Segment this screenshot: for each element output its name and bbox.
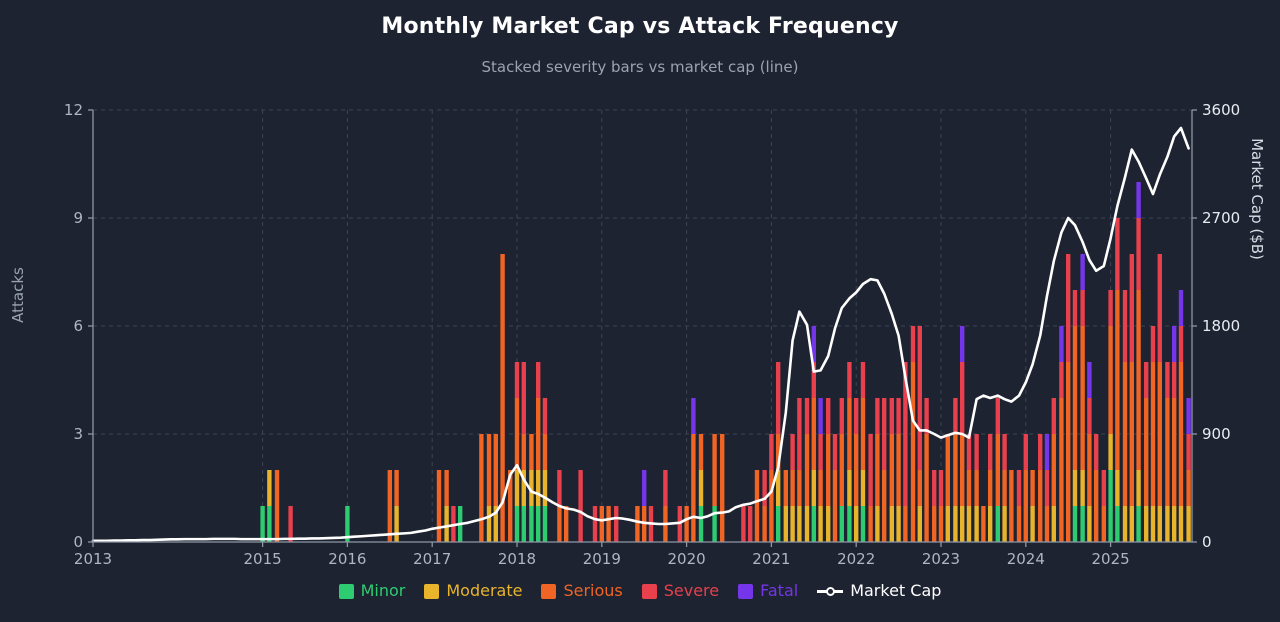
chart-subtitle: Stacked severity bars vs market cap (lin… (0, 58, 1280, 76)
bar-segment-serious (1066, 362, 1070, 542)
bar-segment-severe (918, 326, 922, 470)
x-tick-label: 2025 (1091, 550, 1129, 568)
y-tick-label: 0 (73, 533, 83, 551)
bar-segment-severe (557, 470, 561, 506)
bar-segment-minor (529, 506, 533, 542)
bar-segment-severe (996, 398, 1000, 434)
bar-segment-severe (890, 398, 894, 434)
bar-segment-serious (918, 470, 922, 506)
bar-segment-serious (847, 398, 851, 470)
x-tick-label: 2023 (922, 550, 960, 568)
bar-segment-serious (275, 470, 279, 542)
bar-segment-moderate (444, 506, 448, 542)
bar-segment-serious (536, 398, 540, 470)
line-marker-icon (817, 585, 843, 597)
bar-segment-severe (1151, 326, 1155, 362)
bar-segment-serious (890, 434, 894, 506)
bar-segment-moderate (918, 506, 922, 542)
bar-segment-serious (875, 434, 879, 506)
bar-segment-severe (1024, 434, 1028, 470)
bar-segment-moderate (861, 470, 865, 506)
legend-label: Fatal (760, 583, 798, 599)
bar-segment-serious (769, 470, 773, 542)
bar-segment-severe (882, 398, 886, 470)
bar-segment-serious (1186, 470, 1190, 506)
bar-segment-serious (953, 434, 957, 506)
bar-segment-fatal (1045, 434, 1049, 470)
bar-segment-severe (593, 506, 597, 542)
bar-segment-minor (522, 506, 526, 542)
bar-segment-fatal (960, 326, 964, 362)
bar-segment-serious (720, 434, 724, 542)
bar-segment-moderate (790, 506, 794, 542)
legend-label: Moderate (446, 583, 522, 599)
bar-segment-serious (960, 434, 964, 506)
bar-segment-moderate (536, 470, 540, 506)
bar-segment-severe (515, 362, 519, 398)
bar-segment-serious (494, 434, 498, 506)
bar-segment-serious (1038, 470, 1042, 542)
bar-segment-moderate (1172, 506, 1176, 542)
bar-segment-severe (932, 470, 936, 506)
bar-segment-serious (1144, 398, 1148, 506)
bar-segment-severe (1144, 362, 1148, 398)
bar-segment-serious (924, 434, 928, 542)
bar-segment-serious (805, 434, 809, 506)
bar-segment-moderate (946, 506, 950, 542)
bar-segment-serious (812, 398, 816, 470)
y-tick-label: 3 (73, 425, 83, 443)
bar-segment-moderate (267, 470, 271, 506)
bar-segment-fatal (1136, 182, 1140, 218)
bar-segment-moderate (953, 506, 957, 542)
bar-segment-moderate (1158, 506, 1162, 542)
x-tick-label: 2016 (328, 550, 366, 568)
bar-segment-severe (543, 398, 547, 434)
bar-segment-serious (606, 506, 610, 542)
bar-segment-serious (882, 470, 886, 542)
bar-segment-severe (1115, 218, 1119, 290)
bar-segment-moderate (1151, 506, 1155, 542)
bar-segment-severe (748, 506, 752, 542)
bar-segment-minor (712, 506, 716, 542)
bar-segment-minor (1080, 506, 1084, 542)
bar-segment-moderate (896, 506, 900, 542)
bar-segment-serious (1094, 470, 1098, 542)
bar-segment-minor (536, 506, 540, 542)
bar-segment-serious (479, 434, 483, 542)
legend-label: Severe (664, 583, 719, 599)
bar-segment-moderate (1186, 506, 1190, 542)
legend-swatch-fatal (738, 584, 753, 599)
x-tick-label: 2021 (752, 550, 790, 568)
bar-segment-serious (437, 470, 441, 542)
bar-segment-moderate (974, 506, 978, 542)
bar-segment-severe (1172, 362, 1176, 398)
y2-tick-label: 900 (1202, 425, 1231, 443)
bar-segment-severe (522, 362, 526, 434)
bar-segment-severe (1186, 434, 1190, 470)
bar-segment-severe (614, 506, 618, 542)
bar-segment-severe (1045, 470, 1049, 506)
bar-segment-fatal (1172, 326, 1176, 362)
x-tick-label: 2019 (583, 550, 621, 568)
bar-segment-severe (1052, 398, 1056, 434)
x-tick-label: 2015 (244, 550, 282, 568)
bar-segment-severe (988, 434, 992, 470)
bar-segment-severe (1017, 470, 1021, 506)
bar-segment-severe (939, 470, 943, 506)
bar-segment-moderate (854, 506, 858, 542)
bar-segment-serious (1059, 398, 1063, 542)
legend-swatch-moderate (424, 584, 439, 599)
bar-segment-serious (790, 470, 794, 506)
x-tick-label: 2013 (74, 550, 112, 568)
bar-segment-serious (522, 434, 526, 470)
bar-segment-serious (1045, 506, 1049, 542)
bar-segment-minor (996, 506, 1000, 542)
plot-area: 0369120900180027003600201320152016201720… (93, 110, 1192, 542)
bar-segment-fatal (642, 470, 646, 506)
x-tick-label: 2022 (837, 550, 875, 568)
bar-segment-serious (911, 362, 915, 542)
bar-segment-moderate (890, 506, 894, 542)
bar-segment-serious (1080, 326, 1084, 470)
bar-segment-serious (833, 470, 837, 542)
bar-segment-serious (712, 434, 716, 506)
legend-item-severe[interactable]: Severe (642, 583, 719, 599)
bar-segment-severe (1094, 434, 1098, 470)
bar-segment-serious (1009, 470, 1013, 542)
x-tick-label: 2024 (1007, 550, 1045, 568)
bar-segment-minor (699, 506, 703, 542)
bar-segment-serious (974, 470, 978, 506)
bar-segment-fatal (1080, 254, 1084, 290)
bar-segment-serious (684, 506, 688, 542)
legend-swatch-severe (642, 584, 657, 599)
bar-segment-severe (1087, 398, 1091, 434)
bar-segment-moderate (1144, 506, 1148, 542)
bar-segment-serious (818, 470, 822, 506)
bar-segment-minor (861, 506, 865, 542)
bar-segment-severe (536, 362, 540, 398)
bar-segment-moderate (967, 506, 971, 542)
bar-segment-serious (515, 398, 519, 470)
bar-segment-severe (960, 362, 964, 434)
bar-segment-serious (1115, 290, 1119, 470)
bar-segment-serious (1158, 362, 1162, 506)
bar-segment-fatal (691, 398, 695, 434)
bar-segment-severe (1080, 290, 1084, 326)
bar-segment-severe (1059, 362, 1063, 398)
y-tick-label: 12 (64, 101, 83, 119)
bar-segment-severe (818, 434, 822, 470)
bar-segment-serious (487, 434, 491, 506)
bar-segment-severe (924, 398, 928, 434)
legend-label: Market Cap (850, 583, 941, 599)
bar-segment-serious (1108, 326, 1112, 434)
bar-segment-severe (1136, 218, 1140, 290)
bar-segment-severe (578, 470, 582, 542)
x-tick-label: 2018 (498, 550, 536, 568)
bar-segment-moderate (1179, 506, 1183, 542)
bar-segment-moderate (1165, 506, 1169, 542)
bar-segment-serious (394, 470, 398, 506)
bar-segment-serious (826, 434, 830, 506)
bar-segment-fatal (1179, 290, 1183, 326)
bar-segment-serious (1130, 362, 1134, 506)
bar-segment-severe (663, 470, 667, 506)
bar-segment-serious (1087, 434, 1091, 506)
bar-segment-moderate (1123, 506, 1127, 542)
legend-item-fatal[interactable]: Fatal (738, 583, 798, 599)
bar-segment-moderate (818, 506, 822, 542)
bar-segment-severe (967, 434, 971, 470)
y2-axis-label: Market Cap ($B) (1248, 109, 1266, 289)
bar-segment-serious (755, 470, 759, 542)
y-tick-label: 9 (73, 209, 83, 227)
bar-segment-severe (1179, 326, 1183, 362)
y-axis-label: Attacks (9, 225, 27, 365)
bar-segment-severe (896, 398, 900, 434)
bar-segment-minor (776, 506, 780, 542)
bar-segment-serious (1179, 362, 1183, 506)
bar-segment-serious (600, 506, 604, 542)
bar-segment-severe (1123, 290, 1127, 362)
bar-segment-serious (1136, 290, 1140, 470)
legend-label: Minor (361, 583, 406, 599)
bar-segment-serious (797, 470, 801, 506)
x-tick-label: 2017 (413, 550, 451, 568)
bar-segment-minor (812, 506, 816, 542)
bar-segment-moderate (394, 506, 398, 542)
bar-segment-moderate (1080, 470, 1084, 506)
bar-segment-serious (564, 506, 568, 542)
bar-segment-severe (911, 326, 915, 362)
bar-segment-moderate (1052, 506, 1056, 542)
bar-segment-severe (1038, 434, 1042, 470)
bar-segment-minor (840, 506, 844, 542)
legend-swatch-serious (541, 584, 556, 599)
bar-segment-fatal (1087, 362, 1091, 398)
bar-segment-severe (974, 434, 978, 470)
bar-segment-fatal (818, 398, 822, 434)
bar-segment-serious (557, 506, 561, 542)
bar-segment-moderate (699, 470, 703, 506)
bar-segment-moderate (875, 506, 879, 542)
legend-swatch-minor (339, 584, 354, 599)
bar-segment-severe (288, 506, 292, 542)
bar-segment-moderate (1030, 506, 1034, 542)
bar-segment-severe (1066, 254, 1070, 362)
bar-segment-serious (635, 506, 639, 542)
bar-segment-minor (267, 506, 271, 542)
bar-segment-moderate (1073, 470, 1077, 506)
bar-segment-minor (1073, 506, 1077, 542)
bar-segment-moderate (487, 506, 491, 542)
bar-segment-serious (1024, 470, 1028, 542)
bar-segment-severe (953, 398, 957, 434)
bar-segment-moderate (960, 506, 964, 542)
bar-segment-serious (1165, 398, 1169, 506)
bar-segment-serious (1172, 398, 1176, 506)
bar-segment-serious (854, 434, 858, 506)
bar-segment-fatal (1059, 326, 1063, 362)
chart-legend: MinorModerateSeriousSevereFatalMarket Ca… (0, 583, 1280, 599)
bar-segment-serious (946, 434, 950, 506)
bar-segment-minor (1108, 470, 1112, 542)
bar-segment-moderate (515, 470, 519, 506)
bar-segment-severe (1102, 470, 1106, 506)
bar-segment-serious (1151, 362, 1155, 506)
chart-figure: Monthly Market Cap vs Attack Frequency S… (0, 0, 1280, 622)
bar-segment-moderate (1136, 470, 1140, 506)
bar-segment-severe (790, 434, 794, 470)
bar-segment-moderate (784, 506, 788, 542)
bar-segment-severe (854, 398, 858, 434)
bar-series-group (260, 182, 1190, 542)
bar-segment-severe (1158, 254, 1162, 362)
bar-segment-severe (833, 434, 837, 470)
bar-segment-severe (1165, 362, 1169, 398)
bar-segment-severe (1002, 434, 1006, 470)
bar-segment-minor (1115, 506, 1119, 542)
legend-item-minor[interactable]: Minor (339, 583, 406, 599)
bar-segment-serious (996, 434, 1000, 506)
bar-segment-severe (1130, 254, 1134, 362)
bar-segment-severe (826, 398, 830, 434)
bar-segment-serious (1102, 506, 1106, 542)
bar-segment-severe (776, 362, 780, 434)
bar-segment-serious (1017, 506, 1021, 542)
bar-segment-moderate (805, 506, 809, 542)
bar-segment-minor (515, 506, 519, 542)
y2-tick-label: 0 (1202, 533, 1212, 551)
bar-segment-severe (875, 398, 879, 434)
bar-segment-serious (543, 434, 547, 470)
bar-segment-serious (988, 470, 992, 506)
bar-segment-serious (896, 434, 900, 506)
bar-segment-serious (1073, 326, 1077, 470)
bar-segment-serious (981, 506, 985, 542)
bar-segment-minor (1136, 506, 1140, 542)
bar-segment-moderate (797, 506, 801, 542)
bar-segment-moderate (988, 506, 992, 542)
bar-segment-serious (903, 506, 907, 542)
bar-segment-severe (797, 398, 801, 470)
bar-segment-serious (444, 470, 448, 506)
y2-tick-label: 2700 (1202, 209, 1240, 227)
bar-segment-fatal (1186, 398, 1190, 434)
legend-item-serious[interactable]: Serious (541, 583, 622, 599)
x-tick-label: 2020 (668, 550, 706, 568)
bar-segment-severe (1108, 290, 1112, 326)
bar-segment-moderate (847, 470, 851, 506)
legend-item-market-cap[interactable]: Market Cap (817, 583, 941, 599)
y2-tick-label: 3600 (1202, 101, 1240, 119)
bar-segment-severe (805, 398, 809, 434)
bar-segment-moderate (1115, 470, 1119, 506)
bar-segment-serious (762, 506, 766, 542)
bar-segment-severe (741, 506, 745, 542)
bar-segment-serious (1052, 434, 1056, 506)
bar-segment-serious (868, 506, 872, 542)
bar-segment-moderate (543, 470, 547, 506)
bar-segment-minor (543, 506, 547, 542)
bar-segment-moderate (812, 470, 816, 506)
bar-segment-serious (939, 506, 943, 542)
legend-item-moderate[interactable]: Moderate (424, 583, 522, 599)
bar-segment-severe (847, 362, 851, 398)
bar-segment-severe (861, 362, 865, 398)
y2-tick-label: 1800 (1202, 317, 1240, 335)
legend-label: Serious (563, 583, 622, 599)
bar-segment-serious (932, 506, 936, 542)
bar-segment-severe (769, 434, 773, 470)
y-tick-label: 6 (73, 317, 83, 335)
bar-segment-serious (861, 398, 865, 470)
bar-segment-severe (868, 434, 872, 506)
bar-segment-moderate (1087, 506, 1091, 542)
bar-segment-serious (691, 434, 695, 542)
plot-canvas (93, 110, 1192, 542)
chart-title: Monthly Market Cap vs Attack Frequency (0, 14, 1280, 39)
bar-segment-serious (388, 470, 392, 542)
bar-segment-serious (784, 470, 788, 506)
bar-segment-severe (840, 398, 844, 434)
bar-segment-moderate (826, 506, 830, 542)
bar-segment-serious (699, 434, 703, 470)
bar-segment-serious (529, 434, 533, 470)
bar-segment-moderate (1130, 506, 1134, 542)
bar-segment-serious (967, 470, 971, 506)
bar-segment-moderate (1108, 434, 1112, 470)
bar-segment-serious (840, 434, 844, 506)
bar-segment-serious (1002, 470, 1006, 506)
bar-segment-serious (1030, 470, 1034, 506)
bar-segment-severe (1073, 290, 1077, 326)
bar-segment-minor (847, 506, 851, 542)
bar-segment-minor (260, 506, 264, 542)
bar-segment-serious (1123, 362, 1127, 506)
bar-segment-moderate (1002, 506, 1006, 542)
